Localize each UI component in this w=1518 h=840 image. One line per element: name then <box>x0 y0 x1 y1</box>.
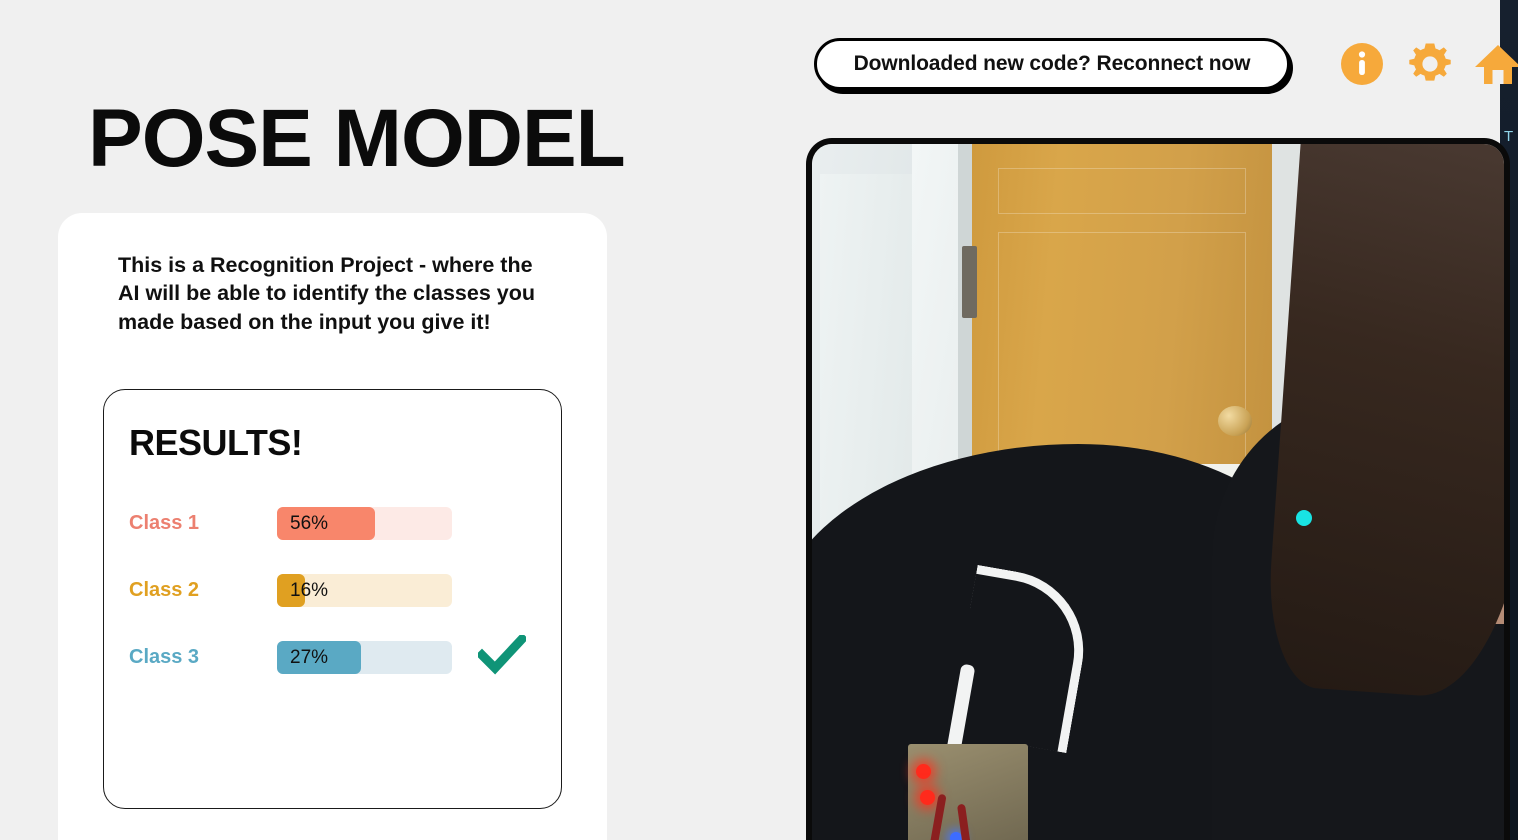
progress-bar-3: 27% <box>277 641 452 674</box>
results-title: RESULTS! <box>129 422 302 464</box>
class-label-3: Class 3 <box>129 646 277 669</box>
progress-value-2: 16% <box>290 574 328 607</box>
pose-tracking-dot <box>1296 510 1312 526</box>
scene-led-red-1 <box>916 764 931 779</box>
result-row-class-2: Class 2 16% <box>129 557 541 624</box>
project-description: This is a Recognition Project - where th… <box>118 251 558 336</box>
gear-icon <box>1406 40 1454 88</box>
class-label-1: Class 1 <box>129 512 277 535</box>
home-icon <box>1473 40 1518 88</box>
progress-value-1: 56% <box>290 507 328 540</box>
webcam-preview-panel[interactable]: UNTANA <box>806 138 1510 840</box>
scene-person-hair <box>1263 144 1504 702</box>
progress-value-3: 27% <box>290 641 328 674</box>
results-rows: Class 1 56% Class 2 16% <box>129 490 541 691</box>
scene-door-hinge-top <box>962 246 977 318</box>
top-icon-row <box>1336 38 1518 90</box>
reconnect-button[interactable]: Downloaded new code? Reconnect now <box>814 38 1290 90</box>
scene-led-red-2 <box>920 790 935 805</box>
top-bar: Downloaded new code? Reconnect now <box>814 38 1518 90</box>
gear-icon-button[interactable] <box>1404 38 1456 90</box>
info-icon <box>1339 41 1385 87</box>
background-window-label: T <box>1504 128 1513 145</box>
home-icon-button[interactable] <box>1472 38 1518 90</box>
info-icon-button[interactable] <box>1336 38 1388 90</box>
reconnect-button-label: Downloaded new code? Reconnect now <box>854 52 1251 76</box>
webcam-video-frame: UNTANA <box>812 144 1504 840</box>
class-label-2: Class 2 <box>129 579 277 602</box>
page-title: POSE MODEL <box>88 98 625 180</box>
result-row-class-3: Class 3 27% <box>129 624 541 691</box>
results-panel: RESULTS! Class 1 56% Class 2 <box>103 389 562 809</box>
progress-bar-2: 16% <box>277 574 452 607</box>
progress-bar-1: 56% <box>277 507 452 540</box>
scene-door-knob <box>1218 406 1252 436</box>
result-row-class-1: Class 1 56% <box>129 490 541 557</box>
check-icon <box>478 635 526 680</box>
check-slot-3 <box>478 635 526 680</box>
scene-door-panel-top <box>998 168 1246 214</box>
project-card: This is a Recognition Project - where th… <box>58 213 607 840</box>
app-root: T Downloaded new code? Reconnect now <box>0 0 1518 840</box>
